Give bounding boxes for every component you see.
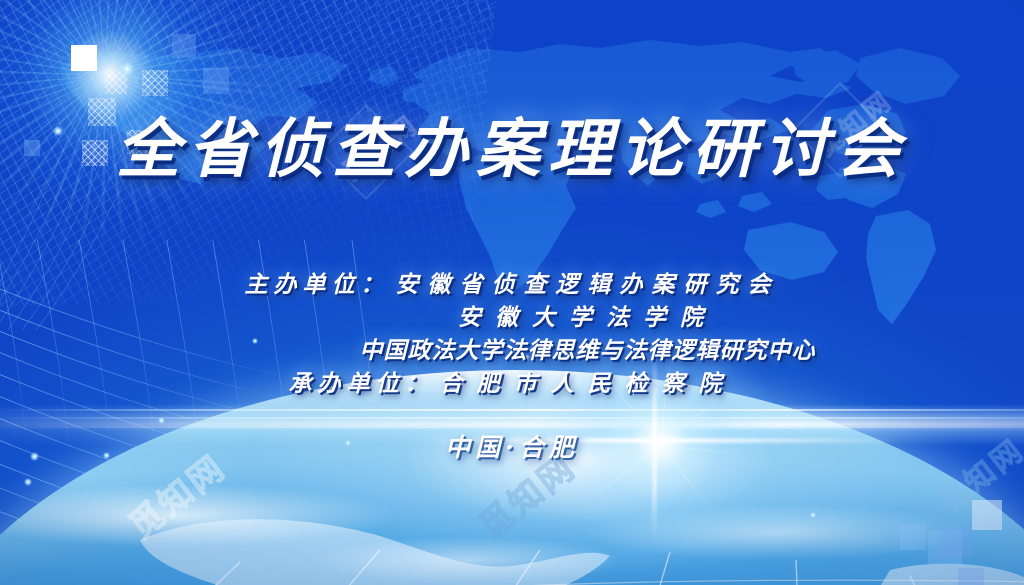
organizer-row: 主办单位：安徽大学法学院 bbox=[0, 298, 1024, 331]
conference-poster: 觅知网 觅知网 觅知网 觅知网 觅知网 全省侦查办案理论研讨会 主办单位：安徽省… bbox=[0, 0, 1024, 585]
venue-label: 中国·合肥 bbox=[0, 428, 1024, 464]
organizer-name: 安徽省侦查逻辑办案研究会 bbox=[396, 265, 780, 299]
poster-title: 全省侦查办案理论研讨会 bbox=[0, 118, 1024, 182]
organizer-row: 主办单位：安徽省侦查逻辑办案研究会 bbox=[0, 265, 1024, 298]
organizer-row: 承办单位：合肥市人民检察院 bbox=[0, 364, 1024, 397]
organizer-name: 中国政法大学法律思维与法律逻辑研究中心 bbox=[360, 331, 816, 365]
organizer-name: 合肥市人民检察院 bbox=[440, 364, 736, 398]
organizer-label: 承办单位： bbox=[289, 364, 434, 398]
organizer-row: 主办单位：中国政法大学法律思维与法律逻辑研究中心 bbox=[0, 331, 1024, 364]
organizer-label: 主办单位： bbox=[245, 265, 390, 299]
organizer-name: 安徽大学法学院 bbox=[458, 298, 717, 332]
organizer-lines: 主办单位：安徽省侦查逻辑办案研究会主办单位：安徽大学法学院主办单位：中国政法大学… bbox=[0, 265, 1024, 397]
poster-content: 全省侦查办案理论研讨会 主办单位：安徽省侦查逻辑办案研究会主办单位：安徽大学法学… bbox=[0, 0, 1024, 585]
